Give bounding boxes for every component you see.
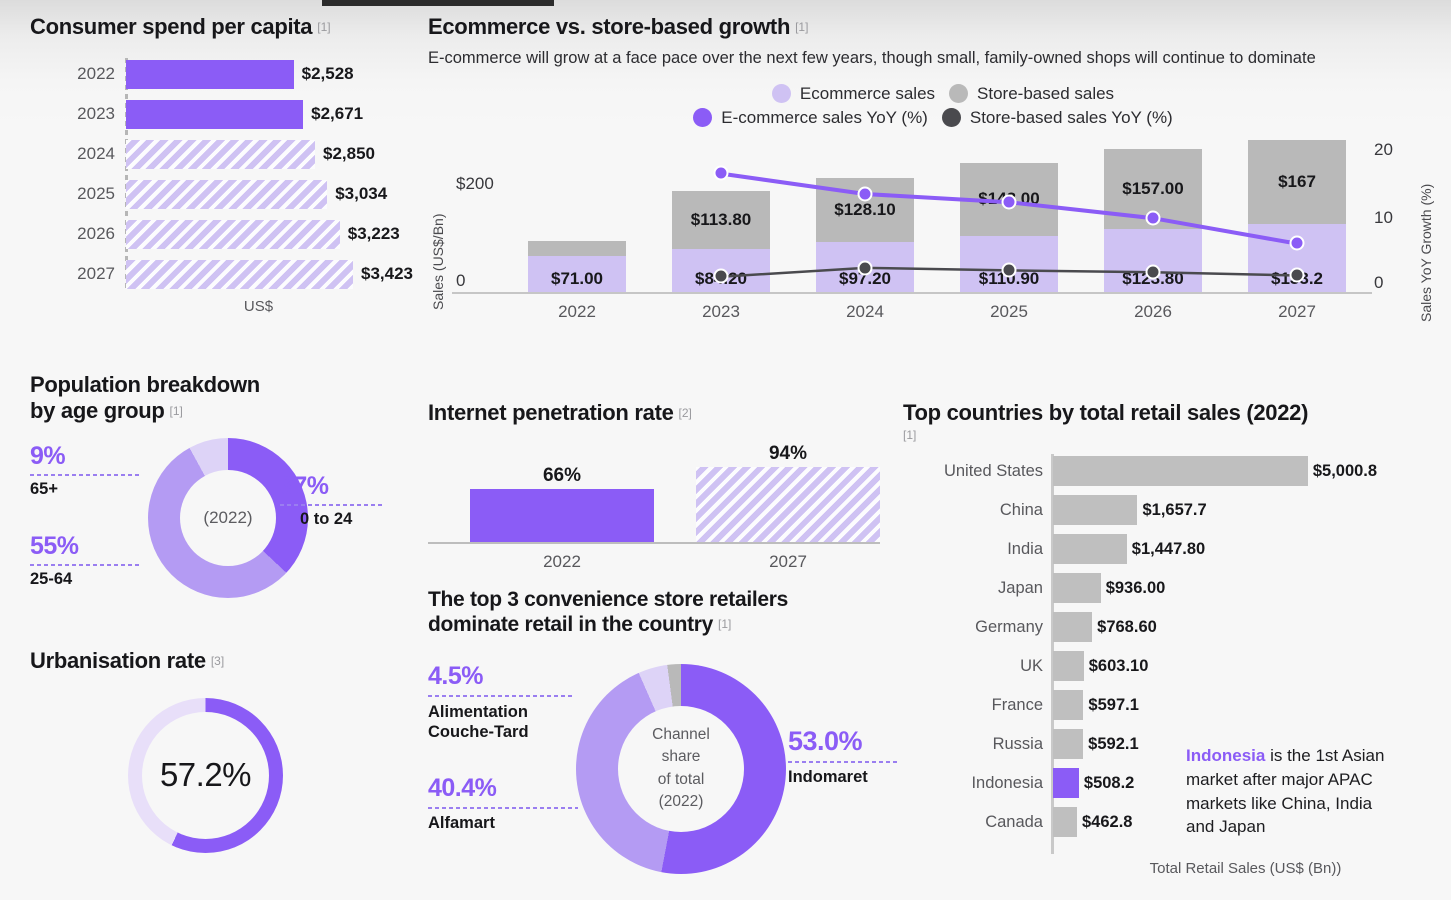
table-row[interactable]: UK$603.10 [903,649,1443,683]
ecommerce-legend: Ecommerce sales Store-based sales E-comm… [428,84,1438,128]
internet-year-label: 2022 [470,552,654,572]
top-countries-chart: United States$5,000.8China$1,657.7India$… [903,454,1443,884]
convenience-callout-alfamart: 40.4% Alfamart [428,774,578,833]
ecommerce-data-point[interactable] [1146,264,1161,279]
panel-urbanisation: Urbanisation rate[3] 57.2% [30,648,420,890]
population-ref: [1] [170,404,183,418]
top-countries-bar[interactable] [1053,651,1084,681]
consumer-spend-axis [125,58,128,290]
convenience-name-alfamart: Alfamart [428,814,578,833]
internet-title-text: Internet penetration rate [428,400,674,425]
top-countries-note: Indonesia is the 1st Asian market after … [1186,744,1401,839]
ecommerce-y-left-axis-label: Sales (US$/Bn) [430,213,446,309]
legend-item-ecommerce-sales[interactable]: Ecommerce sales [772,84,935,104]
panel-population-breakdown: Population breakdown by age group[1] (20… [30,372,420,598]
consumer-spend-year: 2027 [30,258,115,290]
top-countries-country-name: Indonesia [903,766,1043,800]
top-countries-bar[interactable] [1053,768,1079,798]
convenience-ref: [1] [718,617,731,631]
ecommerce-data-point[interactable] [1290,236,1305,251]
population-callout-25-64: 55% 25-64 [30,532,140,589]
consumer-spend-chart: 2022$2,5282023$2,6712024$2,8502025$3,034… [30,58,410,298]
table-row[interactable]: United States$5,000.8 [903,454,1443,488]
ecommerce-store-segment[interactable]: $113.80 [672,191,770,249]
ecommerce-x-label: 2027 [1248,302,1346,322]
top-countries-value: $603.10 [1089,649,1149,683]
ecommerce-online-value: $71.00 [551,269,603,289]
population-title-line2: by age group [30,398,165,423]
legend-dot-icon-store-based-sales [949,84,968,103]
top-countries-country-name: Russia [903,727,1043,761]
top-countries-country-name: Canada [903,805,1043,839]
top-countries-ref: [1] [903,428,1443,442]
panel-top-countries: Top countries by total retail sales (202… [903,400,1443,884]
panel-convenience-retailers: The top 3 convenience store retailers do… [428,588,898,900]
consumer-spend-year: 2023 [30,98,115,130]
ecommerce-subtitle: E-commerce will grow at a face pace over… [428,48,1358,70]
legend-label-ecommerce-sales: Ecommerce sales [800,84,935,104]
ecommerce-online-segment[interactable]: $123.80 [1104,229,1202,292]
internet-value: 94% [696,443,880,465]
top-countries-bar[interactable] [1053,573,1101,603]
consumer-spend-value: $2,671 [311,98,363,130]
population-leader-25-64 [30,564,140,566]
top-countries-country-name: Japan [903,571,1043,605]
panel-title-internet: Internet penetration rate[2] [428,400,888,426]
legend-dot-icon-store-based-yoy [942,108,961,127]
internet-bar[interactable] [696,467,880,542]
ecommerce-x-label: 2024 [816,302,914,322]
ecommerce-y-right-tick-10: 10 [1374,208,1393,228]
table-row[interactable]: France$597.1 [903,688,1443,722]
convenience-callout-couche-tard: 4.5% AlimentationCouche-Tard [428,662,574,743]
top-countries-bar[interactable] [1053,729,1083,759]
top-countries-note-highlight: Indonesia [1186,746,1265,765]
top-countries-title-text: Top countries by total retail sales (202… [903,400,1308,425]
consumer-spend-year: 2022 [30,58,115,90]
ecommerce-data-point[interactable] [858,260,873,275]
top-countries-value: $768.60 [1097,610,1157,644]
panel-title-population: Population breakdown by age group[1] [30,372,420,424]
consumer-spend-row: 2023$2,671 [30,98,410,130]
top-accent-bar [322,0,554,6]
consumer-spend-row: 2024$2,850 [30,138,410,170]
ecommerce-store-value: $157.00 [1122,179,1183,199]
ecommerce-data-point[interactable] [1002,263,1017,278]
top-countries-bar[interactable] [1053,456,1308,486]
ecommerce-title-text: Ecommerce vs. store-based growth [428,14,790,39]
population-leader-0-24 [280,504,385,506]
ecommerce-legend-row-1: Ecommerce sales Store-based sales [428,84,1438,104]
convenience-donut-chart: Channel share of total (2022) 4.5% Alime… [428,654,898,900]
urbanisation-gauge-hole: 57.2% [142,712,269,839]
consumer-spend-value: $2,528 [302,58,354,90]
convenience-donut-hole: Channel share of total (2022) [618,706,744,832]
consumer-spend-title-text: Consumer spend per capita [30,14,312,39]
population-callout-65plus: 9% 65+ [30,442,140,499]
convenience-center-line4: (2022) [659,791,704,813]
population-pct-65plus: 9% [30,442,140,471]
ecommerce-chart: Sales (US$/Bn) Sales YoY Growth (%) $200… [428,140,1438,330]
panel-consumer-spend: Consumer spend per capita[1] 2022$2,5282… [30,14,410,298]
ecommerce-y-right-axis-label: Sales YoY Growth (%) [1418,183,1434,321]
consumer-spend-value: $2,850 [323,138,375,170]
consumer-spend-bar[interactable] [126,140,315,169]
ecommerce-data-point[interactable] [1146,210,1161,225]
consumer-spend-axis-label: US$ [126,298,391,315]
population-center-label: (2022) [203,508,252,528]
population-name-25-64: 25-64 [30,570,140,589]
ecommerce-x-label: 2025 [960,302,1058,322]
convenience-title-line1: The top 3 convenience store retailers [428,588,788,611]
urbanisation-ref: [3] [211,654,224,668]
ecommerce-legend-row-2: E-commerce sales YoY (%) Store-based sal… [428,108,1438,128]
convenience-pct-alfamart: 40.4% [428,774,578,803]
consumer-spend-row: 2026$3,223 [30,218,410,250]
panel-title-consumer-spend: Consumer spend per capita[1] [30,14,410,40]
panel-title-urbanisation: Urbanisation rate[3] [30,648,420,674]
internet-bar-group[interactable]: 94%2027 [696,452,880,572]
internet-bar[interactable] [470,489,654,542]
ecommerce-data-point[interactable] [858,186,873,201]
top-countries-bar[interactable] [1053,495,1137,525]
table-row[interactable]: Japan$936.00 [903,571,1443,605]
consumer-spend-year: 2025 [30,178,115,210]
ecommerce-y-right-tick-20: 20 [1374,140,1393,160]
ecommerce-store-segment[interactable]: $167 [1248,140,1346,225]
population-title-line1: Population breakdown [30,372,260,397]
internet-chart: 66%202294%2027 [428,452,888,572]
legend-label-ecommerce-yoy: E-commerce sales YoY (%) [721,108,928,128]
table-row[interactable]: India$1,447.80 [903,532,1443,566]
top-countries-country-name: United States [903,454,1043,488]
consumer-spend-bar[interactable] [126,260,353,289]
convenience-callout-indomaret: 53.0% Indomaret [788,726,898,787]
top-countries-value: $936.00 [1106,571,1166,605]
population-pct-25-64: 55% [30,532,140,561]
population-donut-chart: (2022) 9% 65+ 55% 25-64 37% 0 to 24 [30,438,420,598]
top-countries-bar[interactable] [1053,534,1127,564]
top-countries-value: $508.2 [1084,766,1134,800]
population-name-65plus: 65+ [30,480,140,499]
consumer-spend-row: 2025$3,034 [30,178,410,210]
top-countries-value: $597.1 [1088,688,1138,722]
consumer-spend-value: $3,034 [335,178,387,210]
panel-ecommerce-growth: Ecommerce vs. store-based growth[1] E-co… [428,14,1438,330]
top-countries-country-name: Germany [903,610,1043,644]
legend-dot-icon-ecommerce-yoy [693,108,712,127]
internet-ref: [2] [679,406,692,420]
population-name-0-24: 0 to 24 [300,510,385,529]
top-countries-value: $5,000.8 [1313,454,1377,488]
convenience-name-indomaret: Indomaret [788,768,898,787]
top-countries-axis-label: Total Retail Sales (US$ (Bn)) [1053,860,1438,877]
ecommerce-y-left-tick-0: 0 [456,271,465,291]
ecommerce-baseline [452,292,1372,294]
top-countries-bar[interactable] [1053,807,1077,837]
convenience-title-line2: dominate retail in the country [428,613,713,636]
convenience-pct-indomaret: 53.0% [788,726,898,757]
population-callout-0-24: 37% 0 to 24 [280,472,385,529]
ecommerce-bar-group[interactable]: $71.002022 [528,241,626,292]
consumer-spend-bar[interactable] [126,60,294,89]
population-pct-0-24: 37% [280,472,385,501]
legend-item-store-based-sales[interactable]: Store-based sales [949,84,1114,104]
panel-internet-penetration: Internet penetration rate[2] 66%202294%2… [428,400,888,572]
consumer-spend-value: $3,223 [348,218,400,250]
consumer-spend-bar[interactable] [126,220,340,249]
convenience-pct-couche-tard: 4.5% [428,662,574,691]
consumer-spend-ref: [1] [317,20,330,34]
top-countries-bar[interactable] [1053,612,1092,642]
ecommerce-store-value: $113.80 [691,210,752,230]
panel-title-convenience: The top 3 convenience store retailers do… [428,588,898,638]
top-countries-country-name: India [903,532,1043,566]
convenience-center-line3: of total [658,769,705,791]
top-countries-value: $462.8 [1082,805,1132,839]
legend-item-ecommerce-yoy[interactable]: E-commerce sales YoY (%) [693,108,928,128]
consumer-spend-bar[interactable] [126,100,303,129]
top-countries-value: $592.1 [1088,727,1138,761]
population-leader-65plus [30,474,140,476]
ecommerce-data-point[interactable] [714,166,729,181]
ecommerce-store-value: $167 [1278,172,1316,192]
consumer-spend-year: 2026 [30,218,115,250]
population-donut-hole: (2022) [180,470,276,566]
ecommerce-data-point[interactable] [714,269,729,284]
internet-value: 66% [470,465,654,487]
top-countries-country-name: France [903,688,1043,722]
legend-label-store-based-sales: Store-based sales [977,84,1114,104]
convenience-center-line1: Channel [652,724,710,746]
ecommerce-data-point[interactable] [1002,194,1017,209]
ecommerce-x-label: 2026 [1104,302,1202,322]
ecommerce-online-segment[interactable]: $71.00 [528,256,626,292]
legend-label-store-based-yoy: Store-based sales YoY (%) [970,108,1173,128]
table-row[interactable]: China$1,657.7 [903,493,1443,527]
ecommerce-x-label: 2022 [528,302,626,322]
urbanisation-gauge-chart: 57.2% [30,690,420,890]
convenience-leader-couche-tard [428,695,574,697]
convenience-name-couche-tard: AlimentationCouche-Tard [428,702,574,743]
top-countries-country-name: China [903,493,1043,527]
urbanisation-title-text: Urbanisation rate [30,648,206,673]
consumer-spend-value: $3,423 [361,258,413,290]
top-countries-bar[interactable] [1053,690,1083,720]
internet-year-label: 2027 [696,552,880,572]
ecommerce-y-right-tick-0: 0 [1374,273,1383,293]
ecommerce-x-label: 2023 [672,302,770,322]
top-countries-value: $1,447.80 [1132,532,1205,566]
convenience-leader-alfamart [428,807,578,809]
ecommerce-ref: [1] [795,20,808,34]
convenience-center-line2: share [662,746,701,768]
top-countries-value: $1,657.7 [1142,493,1206,527]
table-row[interactable]: Germany$768.60 [903,610,1443,644]
legend-dot-icon-ecommerce-sales [772,84,791,103]
panel-title-ecommerce: Ecommerce vs. store-based growth[1] [428,14,1438,40]
ecommerce-y-left-tick-200: $200 [456,174,494,194]
convenience-leader-indomaret [788,761,898,763]
top-countries-country-name: UK [903,649,1043,683]
consumer-spend-bar[interactable] [126,180,327,209]
consumer-spend-row: 2022$2,528 [30,58,410,90]
ecommerce-store-segment[interactable] [528,241,626,256]
ecommerce-store-value: $128.10 [834,200,895,220]
ecommerce-data-point[interactable] [1290,268,1305,283]
consumer-spend-row: 2027$3,423 [30,258,410,290]
internet-bar-group[interactable]: 66%2022 [470,452,654,572]
legend-item-store-based-yoy[interactable]: Store-based sales YoY (%) [942,108,1173,128]
dashboard-root: Consumer spend per capita[1] 2022$2,5282… [0,0,1451,900]
panel-title-top-countries: Top countries by total retail sales (202… [903,400,1443,426]
consumer-spend-year: 2024 [30,138,115,170]
urbanisation-value: 57.2% [160,756,251,794]
